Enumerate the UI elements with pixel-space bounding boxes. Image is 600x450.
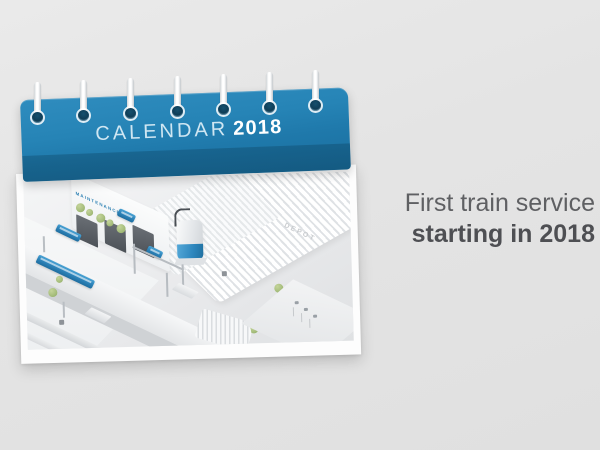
parked-car	[304, 308, 308, 311]
parking-stripe	[293, 307, 294, 316]
parking-lot	[242, 279, 354, 349]
calendar-header: CALENDAR2018	[20, 87, 351, 182]
calendar-photo-card: MAINTENANCE DEPOT	[16, 165, 361, 364]
service-silo-base	[174, 258, 208, 266]
parked-car	[295, 301, 299, 304]
tree	[106, 219, 113, 226]
tree	[96, 214, 105, 223]
utility-box-1	[59, 320, 64, 325]
tree	[86, 209, 93, 216]
calendar-title-word: CALENDAR	[95, 118, 229, 145]
tree	[116, 224, 125, 233]
platform-shelter-1	[172, 283, 199, 299]
depot-illustration: MAINTENANCE DEPOT	[23, 172, 354, 350]
calendar-graphic: CALENDAR2018	[8, 78, 358, 368]
caption-line-1: First train service	[363, 189, 595, 218]
calendar-photo: MAINTENANCE DEPOT	[23, 172, 354, 350]
utility-box-2	[222, 271, 227, 276]
parked-car	[313, 315, 317, 318]
slide-canvas: CALENDAR2018	[0, 0, 600, 450]
tree	[56, 276, 63, 283]
headline-caption: First train service starting in 2018	[363, 189, 595, 248]
caption-line-2: starting in 2018	[363, 220, 595, 249]
tree	[48, 288, 57, 297]
tree	[76, 203, 85, 212]
parking-stripe	[301, 313, 302, 322]
calendar-title-year: 2018	[233, 116, 283, 140]
parking-stripe	[309, 319, 310, 328]
catenary-post-3	[166, 273, 169, 297]
calendar-title: CALENDAR2018	[95, 116, 283, 146]
